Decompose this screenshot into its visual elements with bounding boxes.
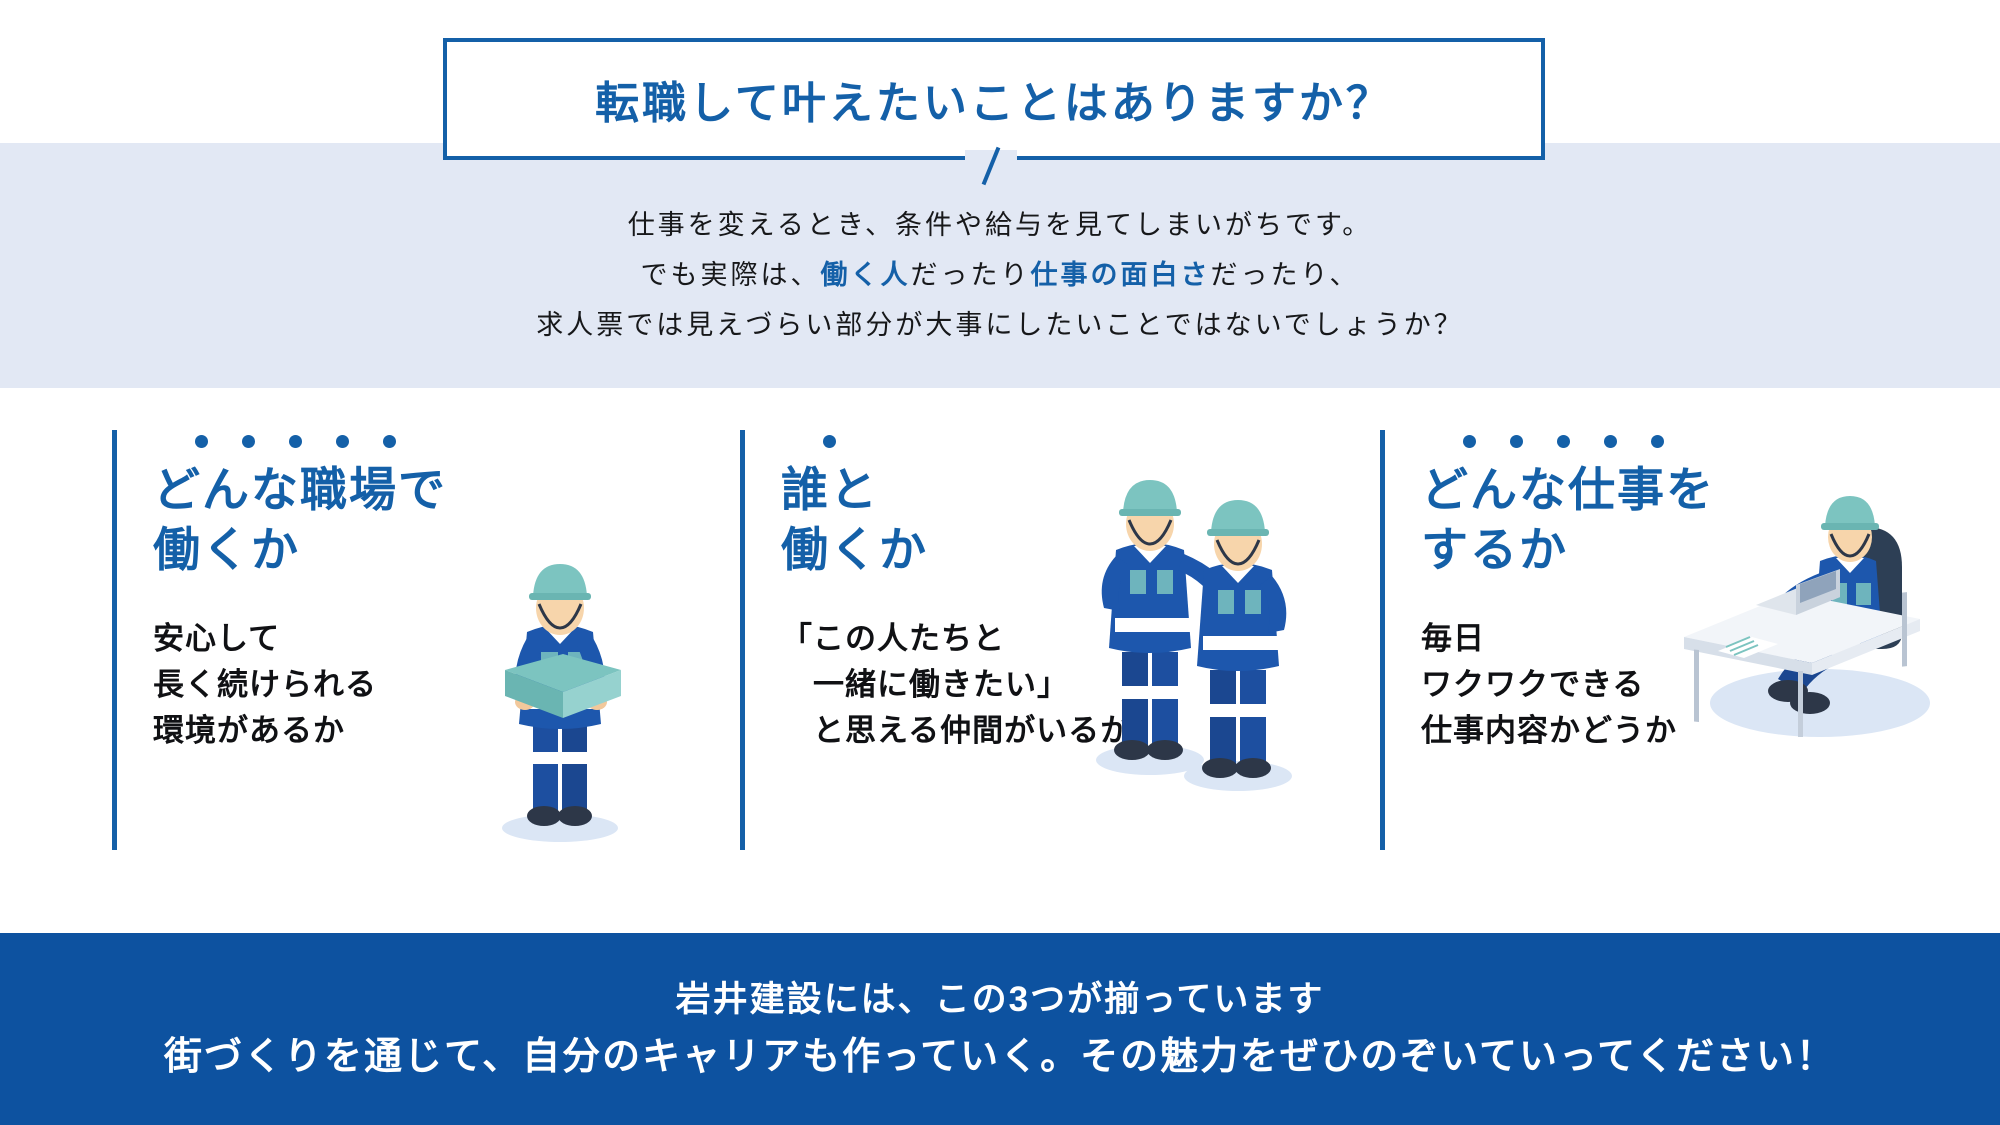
dot-icon [1557,435,1570,448]
bottom-banner: 岩井建設には、この3つが揃っています 街づくりを通じて、自分のキャリアも作ってい… [0,933,2000,1125]
emphasis-dots [1463,430,1900,452]
banner-line-2: 街づくりを通じて、自分のキャリアも作っていく。その魅力をぜひのぞいていってくださ… [164,1028,1836,1086]
page-title: 転職して叶えたいことはありますか？ [595,67,1393,131]
intro-line-1: 仕事を変えるとき、条件や給与を見てしまいがちです。 [0,200,2000,250]
two-workers-arm-around-shoulder-illustration [1060,440,1330,800]
dot-icon [823,435,836,448]
dot-icon [383,435,396,448]
intro-paragraph: 仕事を変えるとき、条件や給与を見てしまいがちです。 でも実際は、働く人だったり仕… [0,200,2000,350]
dot-icon [1463,435,1476,448]
dot-icon [1651,435,1664,448]
dot-icon [195,435,208,448]
intro-highlight-people: 働く人 [821,260,911,290]
dot-icon [1510,435,1523,448]
worker-at-desk-with-laptop-illustration [1670,455,2000,785]
worker-reading-blueprint-illustration [465,520,655,850]
intro-line-2-part-c: だったり [911,260,1031,290]
headline-box: 転職して叶えたいことはありますか？ [443,38,1545,160]
dot-icon [289,435,302,448]
banner-line-1: 岩井建設には、この3つが揃っています [676,972,1325,1028]
intro-line-3: 求人票では見えづらい部分が大事にしたいことではないでしょうか？ [0,300,2000,350]
emphasis-dots [195,430,632,452]
intro-line-2: でも実際は、働く人だったり仕事の面白さだったり、 [0,250,2000,300]
intro-highlight-work-interest: 仕事の面白さ [1031,260,1211,290]
dot-icon [1604,435,1617,448]
card-title-line-1: どんな職場で [153,460,632,520]
dot-icon [242,435,255,448]
intro-line-2-part-e: だったり、 [1211,260,1360,290]
dot-icon [336,435,349,448]
slash-accent-icon [975,148,1005,184]
intro-line-2-part-a: でも実際は、 [641,260,821,290]
